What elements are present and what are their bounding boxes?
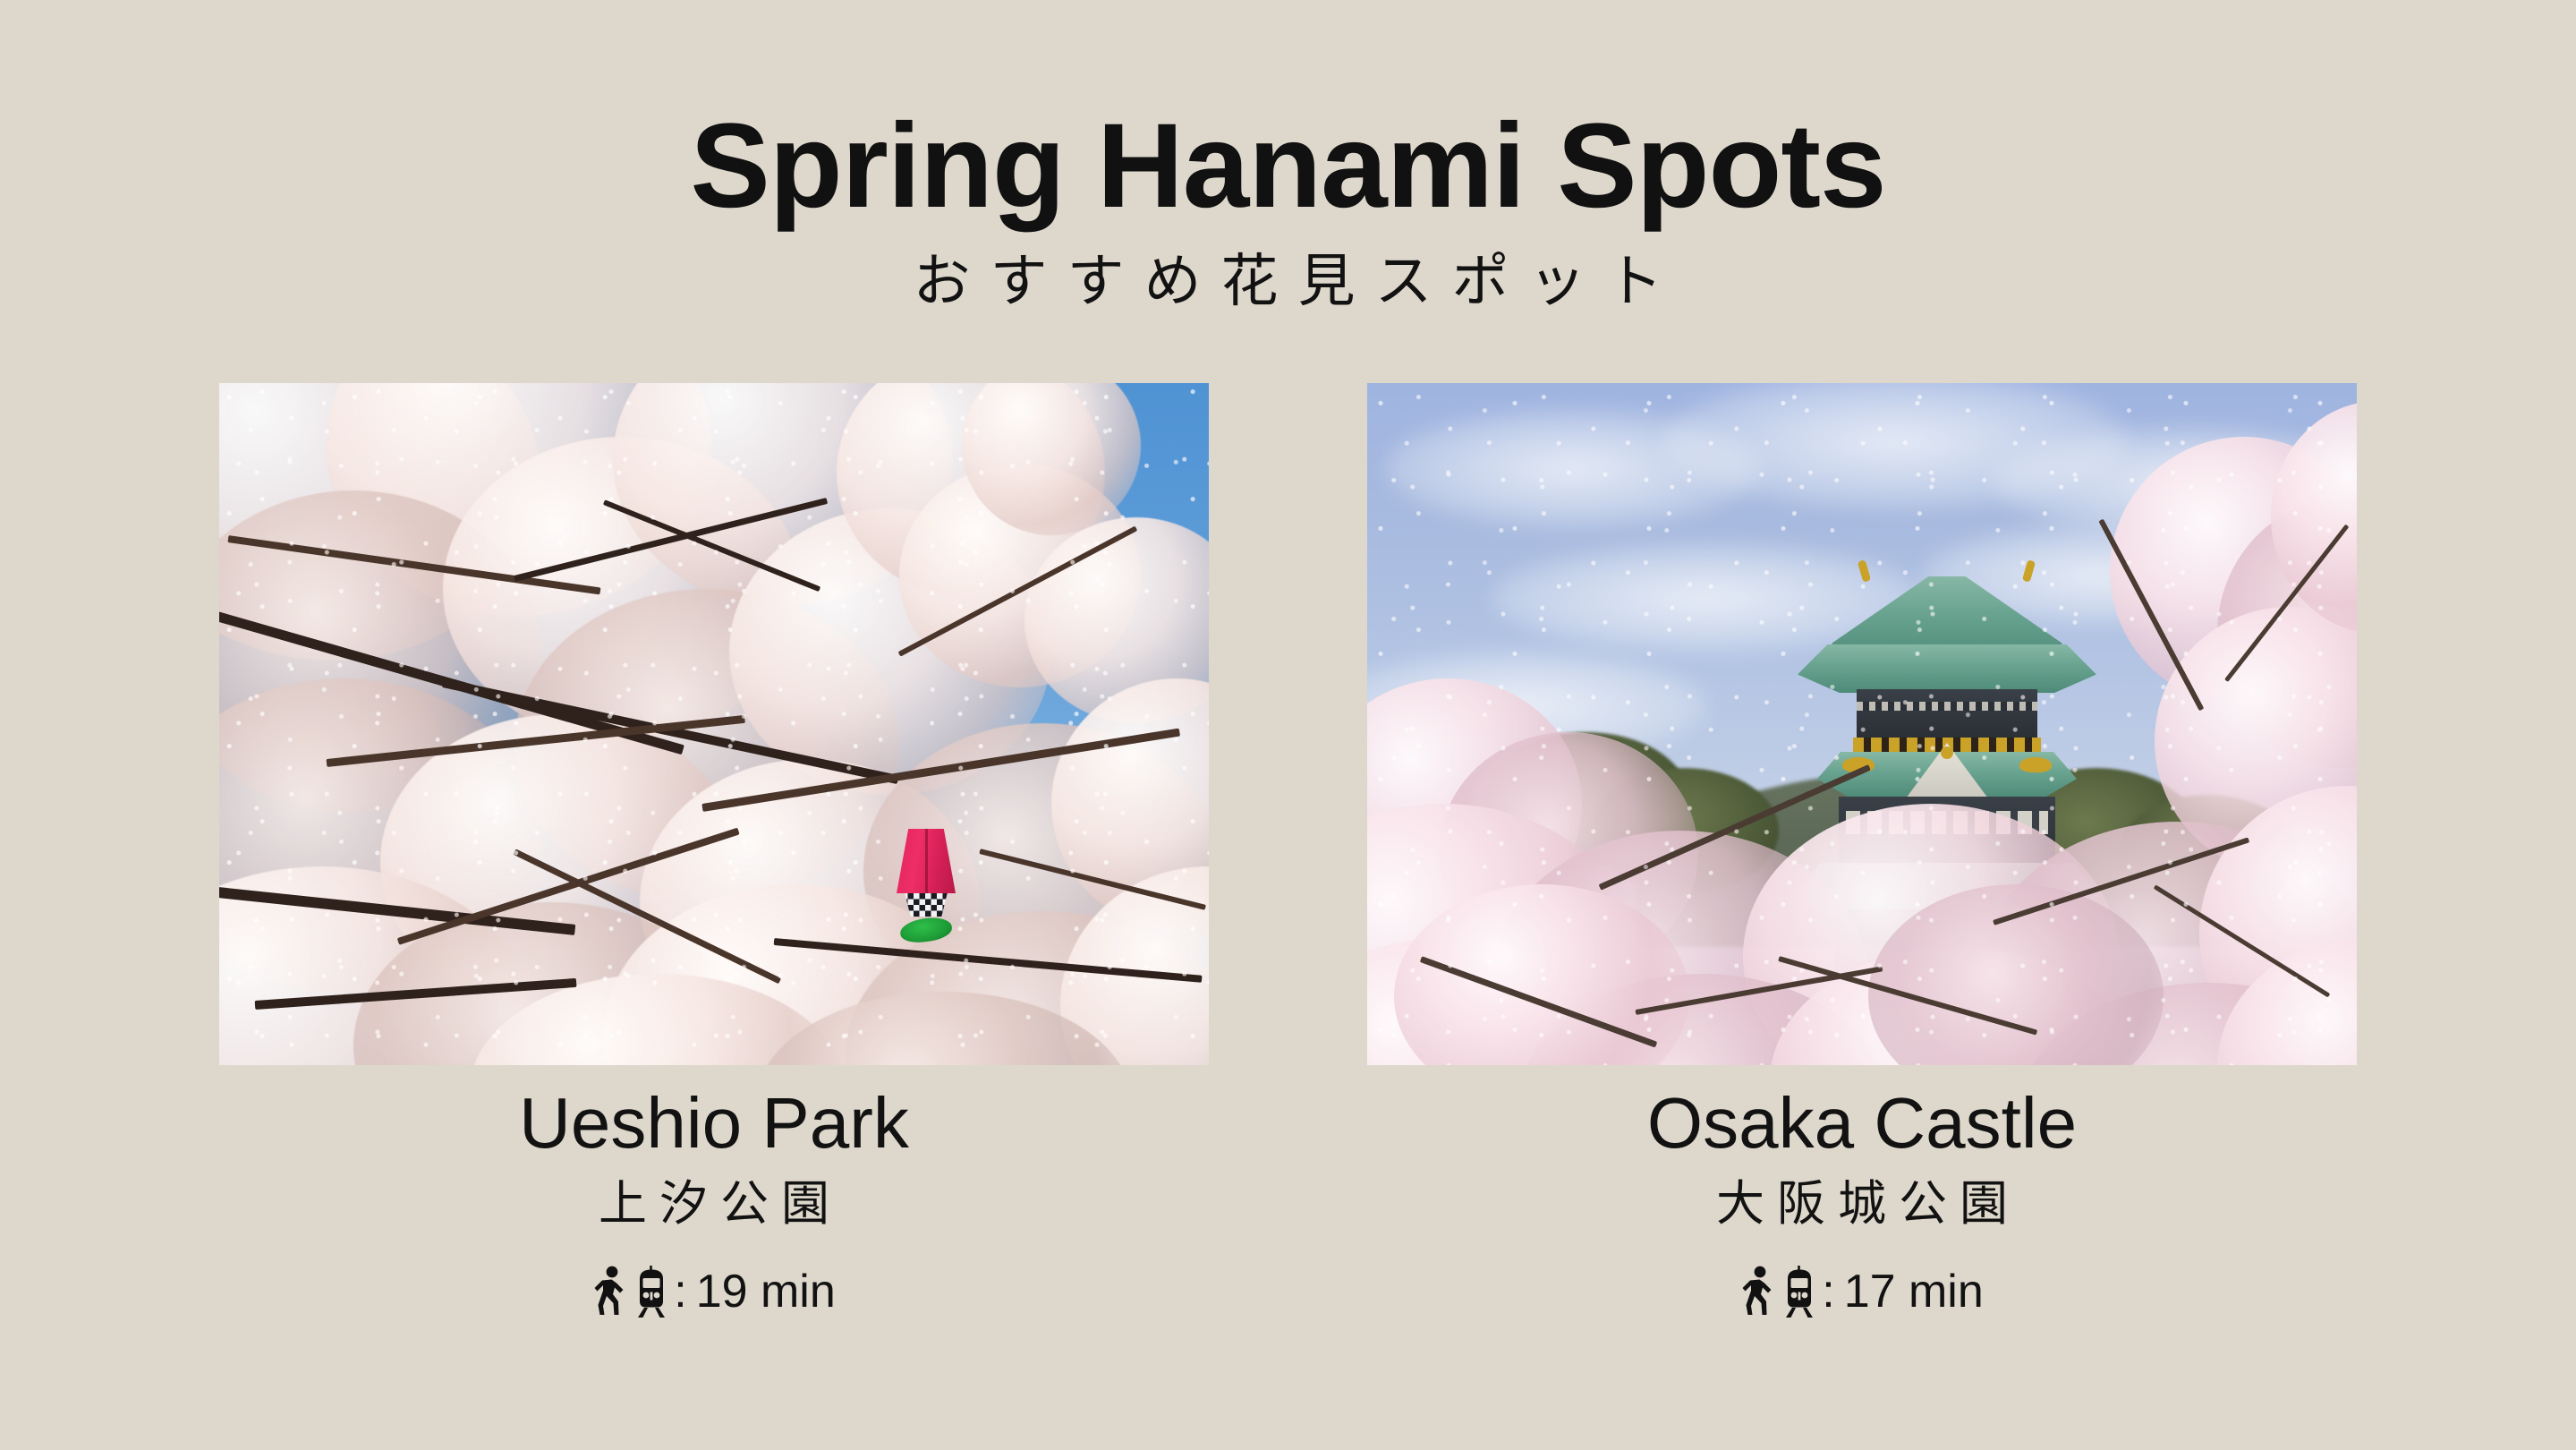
walking-icon xyxy=(592,1266,628,1318)
spot-access-info: : 17 min xyxy=(1367,1265,2357,1318)
access-separator: : xyxy=(1822,1265,1834,1318)
spot-card-osaka-castle[interactable]: Osaka Castle 大阪城公園 xyxy=(1367,383,2357,1318)
spot-caption-ueshio-park: Ueshio Park 上汐公園 xyxy=(219,1085,1209,1318)
access-separator: : xyxy=(674,1265,686,1318)
spot-name-ja: 上汐公園 xyxy=(219,1164,1209,1234)
spot-card-ueshio-park[interactable]: Ueshio Park 上汐公園 xyxy=(219,383,1209,1318)
spot-name-ja: 大阪城公園 xyxy=(1367,1164,2357,1234)
spot-photo-osaka-castle xyxy=(1367,383,2357,1065)
spot-access-info: : 19 min xyxy=(219,1265,1209,1318)
page-subtitle-japanese: おすすめ花見スポット xyxy=(0,235,2576,318)
hanami-slide: Spring Hanami Spots おすすめ花見スポット xyxy=(0,0,2576,1450)
header: Spring Hanami Spots おすすめ花見スポット xyxy=(0,106,2576,318)
spot-photo-ueshio-park xyxy=(219,383,1209,1065)
train-icon xyxy=(634,1266,668,1318)
festival-lantern xyxy=(897,829,956,942)
walking-icon xyxy=(1740,1266,1776,1318)
access-duration: 19 min xyxy=(696,1265,836,1318)
train-icon xyxy=(1782,1266,1816,1318)
spot-name-en: Ueshio Park xyxy=(219,1085,1209,1162)
spot-card-list: Ueshio Park 上汐公園 xyxy=(219,383,2357,1318)
access-duration: 17 min xyxy=(1844,1265,1984,1318)
spot-name-en: Osaka Castle xyxy=(1367,1085,2357,1162)
spot-caption-osaka-castle: Osaka Castle 大阪城公園 xyxy=(1367,1085,2357,1318)
page-title: Spring Hanami Spots xyxy=(0,106,2576,228)
